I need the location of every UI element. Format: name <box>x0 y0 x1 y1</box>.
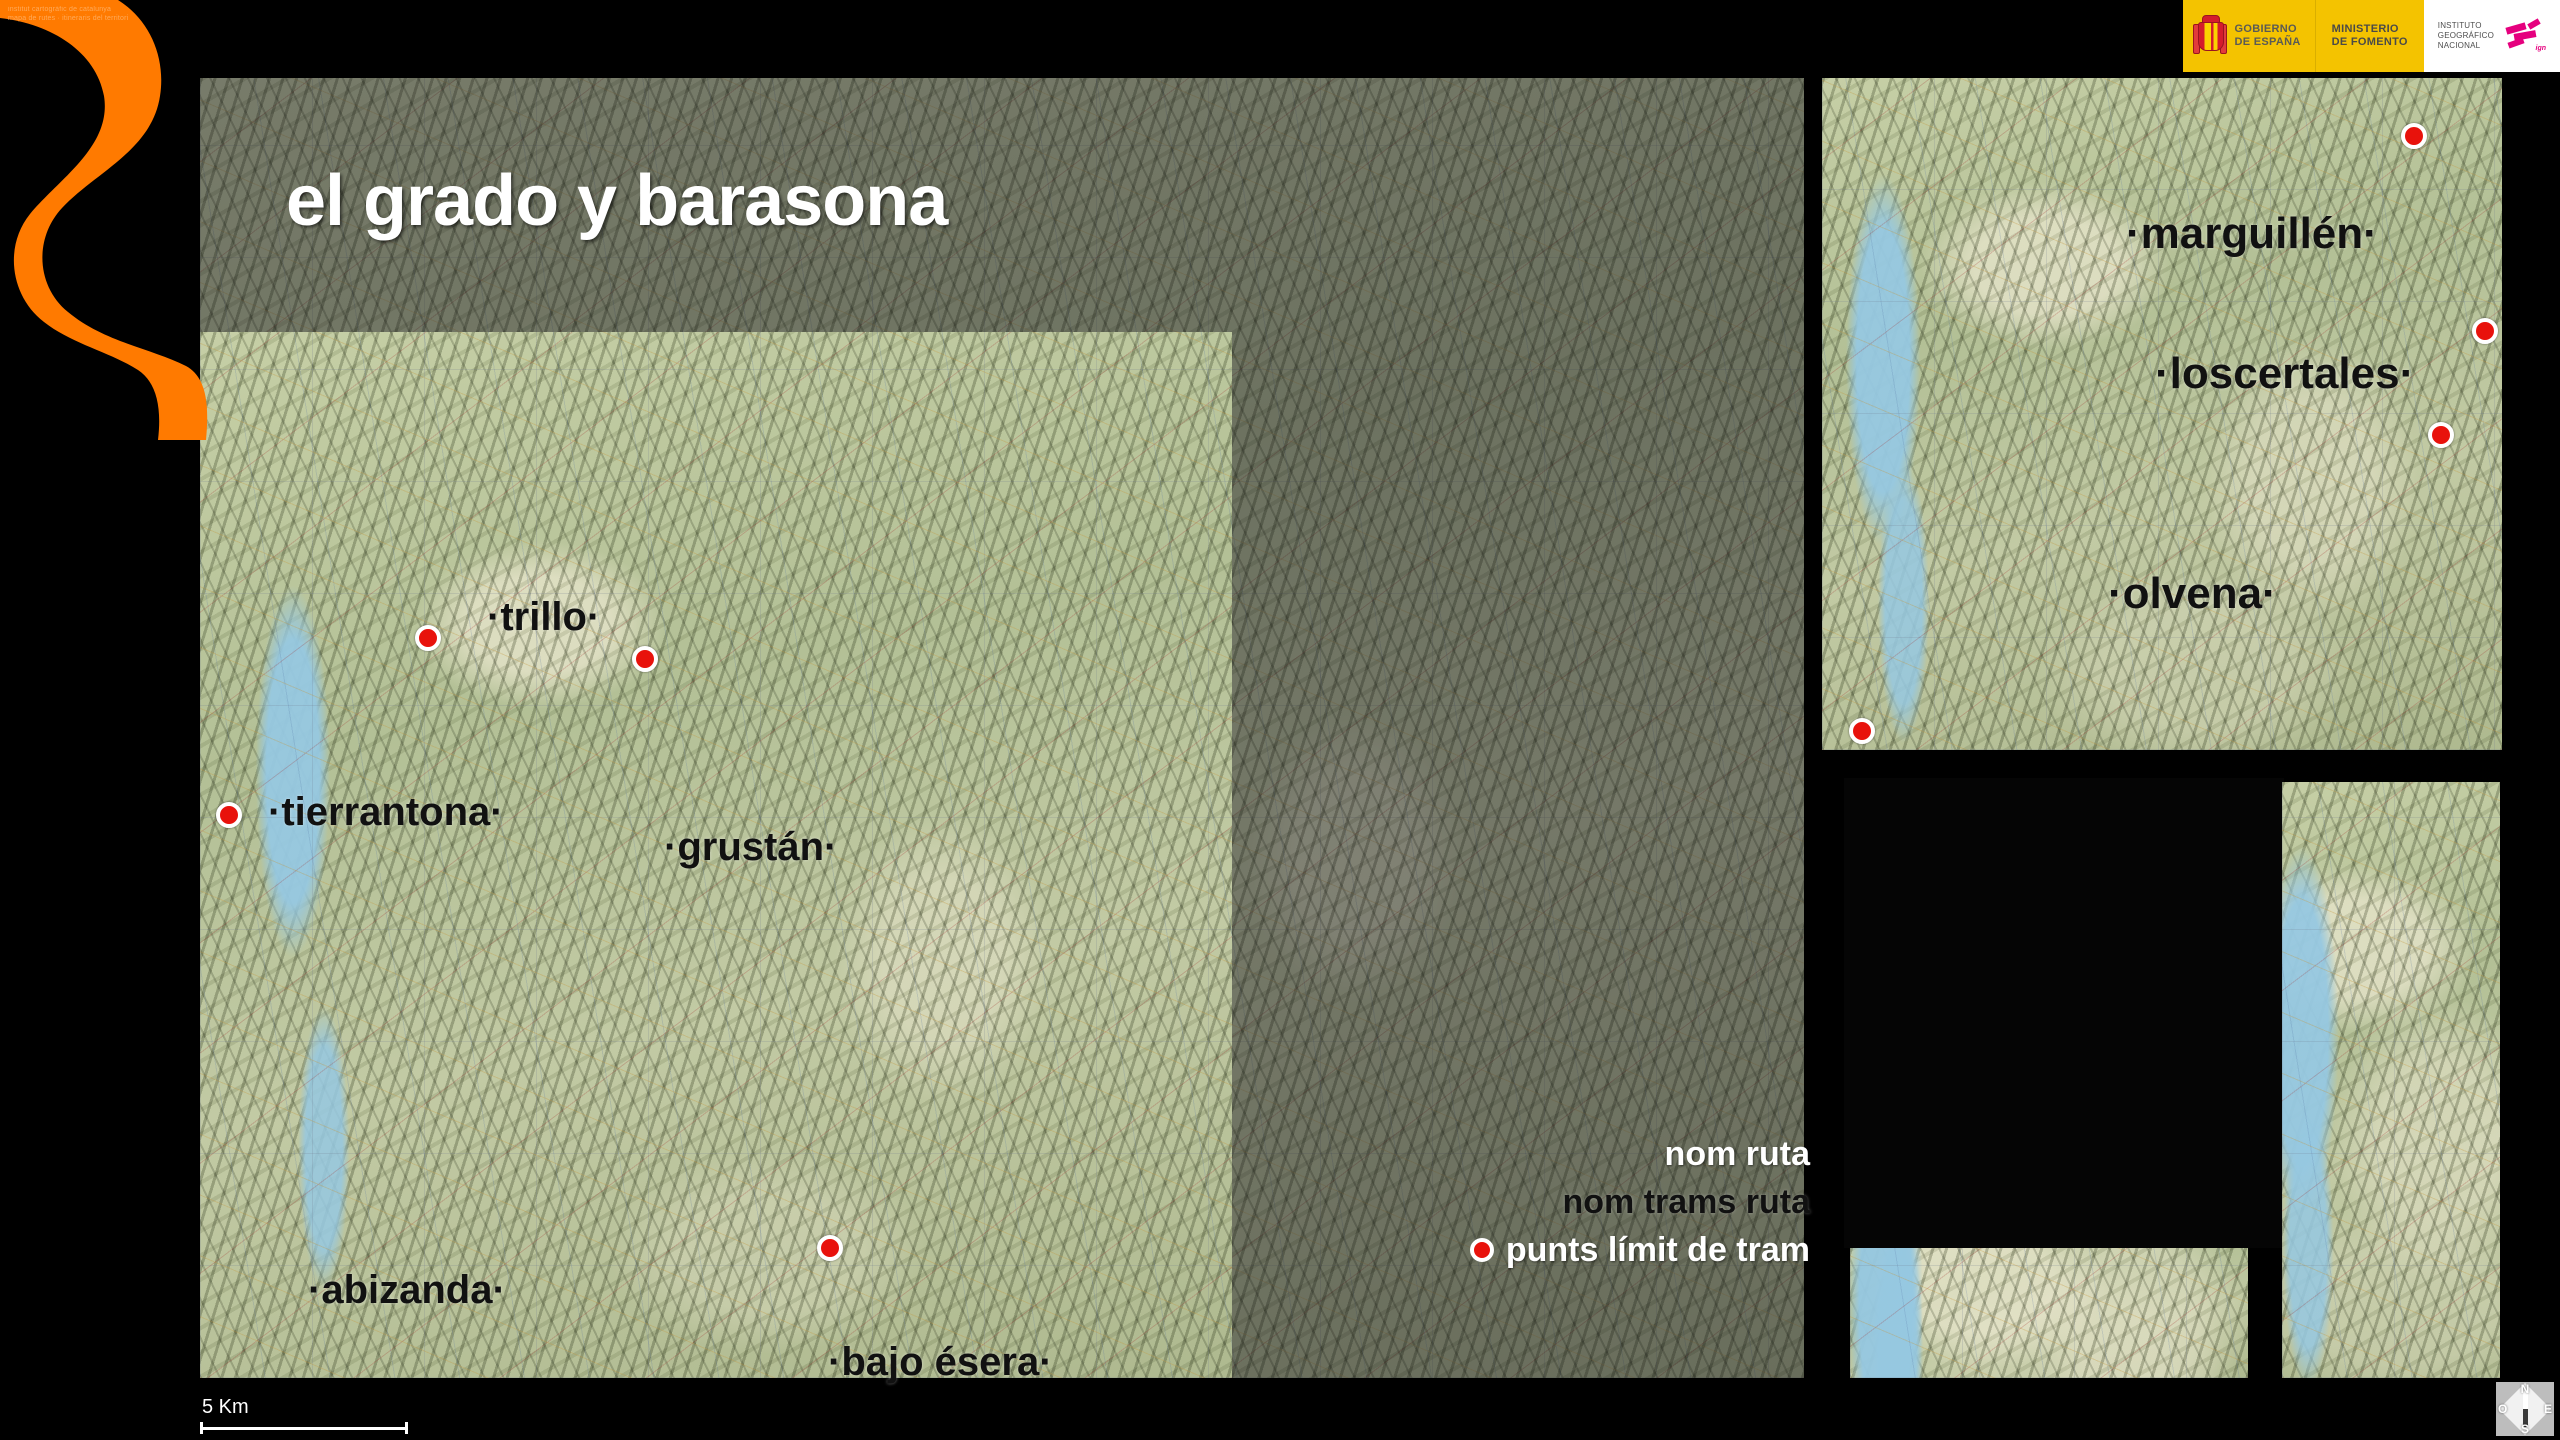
orange-swoosh-logo-icon <box>0 0 210 440</box>
place-label: ·grustán· <box>664 825 837 870</box>
place-label: ·marguillén· <box>2126 209 2378 259</box>
legend-row: nom trams ruta <box>1380 1178 1810 1226</box>
compass-north-label: N <box>2521 1382 2530 1396</box>
scale-bar-label: 5 Km <box>202 1396 408 1418</box>
logo-gobierno-line1: GOBIERNO <box>2235 23 2301 36</box>
legend-row: nom ruta <box>1380 1130 1810 1178</box>
place-label: ·tierrantona· <box>268 790 504 835</box>
logo-ign-line3: NACIONAL <box>2438 41 2494 51</box>
place-label: ·bajo ésera· <box>828 1340 1053 1385</box>
logo-instituto-geografico-nacional: INSTITUTO GEOGRÁFICO NACIONAL ign <box>2424 0 2560 72</box>
legend-row: punts límit de tram <box>1380 1226 1810 1274</box>
route-limit-marker[interactable] <box>2401 123 2427 149</box>
route-limit-marker[interactable] <box>2472 318 2498 344</box>
legend-row-label: punts límit de tram <box>1506 1226 1810 1274</box>
compass-south-label: S <box>2521 1422 2529 1436</box>
page-title: el grado y barasona <box>286 160 947 242</box>
logo-ign-line1: INSTITUTO <box>2438 21 2494 31</box>
logo-ign-text: INSTITUTO GEOGRÁFICO NACIONAL <box>2438 21 2494 51</box>
institutional-logo-bar: GOBIERNO DE ESPAÑA MINISTERIO DE FOMENTO… <box>2183 0 2560 72</box>
logo-gobierno-de-espana: GOBIERNO DE ESPAÑA <box>2183 0 2316 72</box>
compass-west-label: O <box>2498 1402 2507 1416</box>
map-poster: institut cartogràfic de catalunya mapa d… <box>0 0 2560 1440</box>
route-limit-marker[interactable] <box>216 802 242 828</box>
place-label: ·loscertales· <box>2155 349 2414 399</box>
legend: nom rutanom trams rutapunts límit de tra… <box>1380 1130 1810 1274</box>
panel-gap-upper <box>1804 752 2284 780</box>
logo-ministerio-de-fomento: MINISTERIO DE FOMENTO <box>2316 0 2424 72</box>
logo-gobierno-text: GOBIERNO DE ESPAÑA <box>2235 23 2301 49</box>
route-limit-marker[interactable] <box>1849 718 1875 744</box>
ign-mark-text: ign <box>2536 45 2547 52</box>
place-label: ·abizanda· <box>308 1268 506 1313</box>
route-limit-marker[interactable] <box>817 1235 843 1261</box>
compass-rose-icon: N S E O <box>2496 1382 2554 1436</box>
place-label: ·olvena· <box>2108 569 2277 619</box>
compass-east-label: E <box>2544 1402 2552 1416</box>
route-limit-marker[interactable] <box>2428 422 2454 448</box>
scale-bar-icon <box>200 1422 408 1434</box>
spain-coat-of-arms-icon <box>2193 15 2227 57</box>
logo-ign-line2: GEOGRÁFICO <box>2438 31 2494 41</box>
route-limit-marker[interactable] <box>415 625 441 651</box>
logo-ministerio-line1: MINISTERIO <box>2332 23 2408 36</box>
brand-logo: institut cartogràfic de catalunya mapa d… <box>0 0 210 440</box>
brand-tagline: institut cartogràfic de catalunya mapa d… <box>8 5 203 23</box>
place-label: ·trillo· <box>487 595 600 640</box>
inset-map-bottom-strip[interactable] <box>1850 1248 2248 1378</box>
brand-tagline-line2: mapa de rutes · itineraris del territori <box>8 14 203 23</box>
panel-gap-lower <box>1844 778 2284 1248</box>
ign-flame-icon: ign <box>2504 19 2546 53</box>
inset-map-right-strip[interactable] <box>2282 782 2500 1378</box>
inset-map-north[interactable] <box>1822 78 2502 750</box>
logo-ministerio-line2: DE FOMENTO <box>2332 36 2408 49</box>
logo-ministerio-text: MINISTERIO DE FOMENTO <box>2332 23 2408 49</box>
legend-marker-icon <box>1470 1238 1494 1262</box>
route-limit-marker[interactable] <box>632 646 658 672</box>
brand-tagline-line1: institut cartogràfic de catalunya <box>8 5 203 14</box>
scale-bar: 5 Km <box>200 1396 408 1434</box>
logo-gobierno-line2: DE ESPAÑA <box>2235 36 2301 49</box>
